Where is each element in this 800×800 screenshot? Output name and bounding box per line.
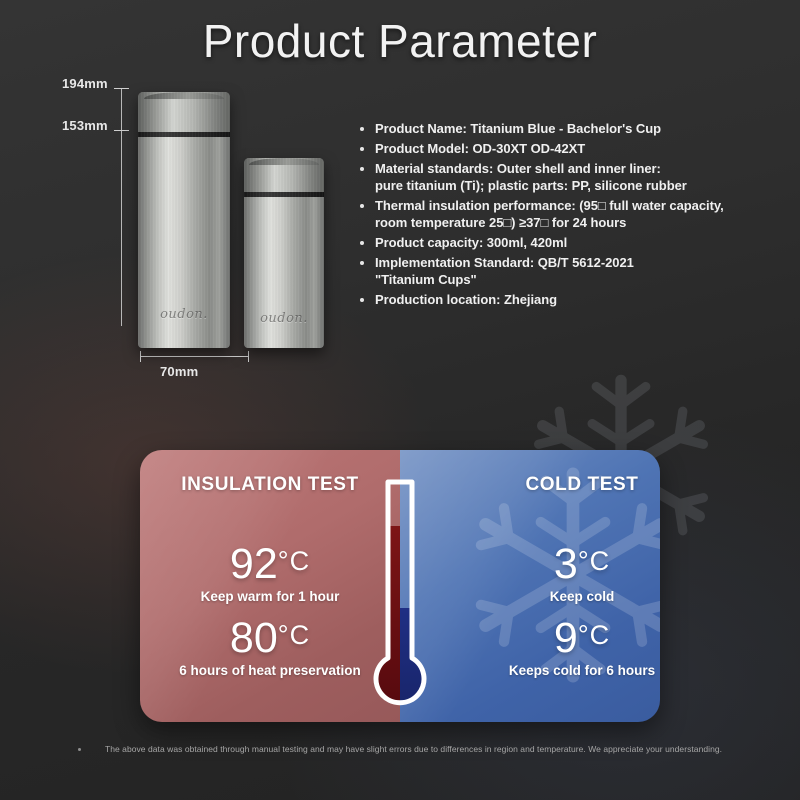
footer-bullet-icon (78, 748, 81, 751)
bullet-icon (360, 261, 364, 265)
dimension-label-body-height: 153mm (62, 118, 108, 133)
bullet-icon (360, 241, 364, 245)
page-title: Product Parameter (0, 14, 800, 68)
footer-note-text: The above data was obtained through manu… (105, 744, 722, 754)
degree-unit: °C (278, 620, 310, 650)
spec-item: Thermal insulation performance: (95□ ful… (360, 197, 780, 231)
cup-lid-top-large (144, 92, 225, 99)
spec-item: Product Name: Titanium Blue - Bachelor's… (360, 120, 780, 137)
dimension-label-width: 70mm (160, 364, 198, 379)
spec-item-text: Product Model: OD-30XT OD-42XT (375, 140, 585, 157)
degree-unit: °C (278, 546, 310, 576)
spec-item: Material standards: Outer shell and inne… (360, 160, 780, 194)
dimension-horizontal-line (140, 356, 248, 357)
degree-unit: °C (578, 620, 610, 650)
dimension-tick-width-left (140, 351, 141, 362)
spec-item: Product capacity: 300ml, 420ml (360, 234, 780, 251)
infographic-canvas: Product Parameter 194mm 153mm 70mm oudon… (0, 0, 800, 800)
bullet-icon (360, 127, 364, 131)
dimension-tick-width-right (248, 351, 249, 362)
spec-item-text: Production location: Zhejiang (375, 291, 557, 308)
cold-temp-2: 9°C (452, 612, 660, 661)
cup-lid-top-small (249, 158, 319, 165)
dimension-label-total-height: 194mm (62, 76, 108, 91)
degree-unit: °C (578, 546, 610, 576)
product-photo-group: oudon. oudon. (120, 78, 340, 348)
product-cup-small: oudon. (244, 158, 324, 348)
cold-temp-1: 3°C (452, 538, 660, 587)
spec-item: Implementation Standard: QB/T 5612-2021 … (360, 254, 780, 288)
spec-item-text: Implementation Standard: QB/T 5612-2021 … (375, 254, 634, 288)
spec-item: Product Model: OD-30XT OD-42XT (360, 140, 780, 157)
footer-note: The above data was obtained through manu… (0, 744, 800, 754)
spec-item: Production location: Zhejiang (360, 291, 780, 308)
spec-item-text: Product capacity: 300ml, 420ml (375, 234, 567, 251)
bullet-icon (360, 204, 364, 208)
cup-brand-logo-small: oudon. (244, 311, 324, 326)
bullet-icon (360, 298, 364, 302)
cold-caption-2: Keeps cold for 6 hours (452, 663, 660, 678)
cup-brand-logo-large: oudon. (138, 307, 230, 322)
bullet-icon (360, 167, 364, 171)
thermometer-icon (360, 468, 440, 718)
product-cup-large: oudon. (138, 92, 230, 348)
cup-lid-small (244, 158, 324, 194)
cup-band-small (244, 192, 324, 197)
cup-band-large (138, 132, 230, 137)
spec-item-text: Material standards: Outer shell and inne… (375, 160, 687, 194)
spec-item-text: Thermal insulation performance: (95□ ful… (375, 197, 724, 231)
bullet-icon (360, 147, 364, 151)
cup-lid-large (138, 92, 230, 134)
spec-list: Product Name: Titanium Blue - Bachelor's… (360, 120, 780, 311)
spec-item-text: Product Name: Titanium Blue - Bachelor's… (375, 120, 661, 137)
cold-caption-1: Keep cold (452, 589, 660, 604)
